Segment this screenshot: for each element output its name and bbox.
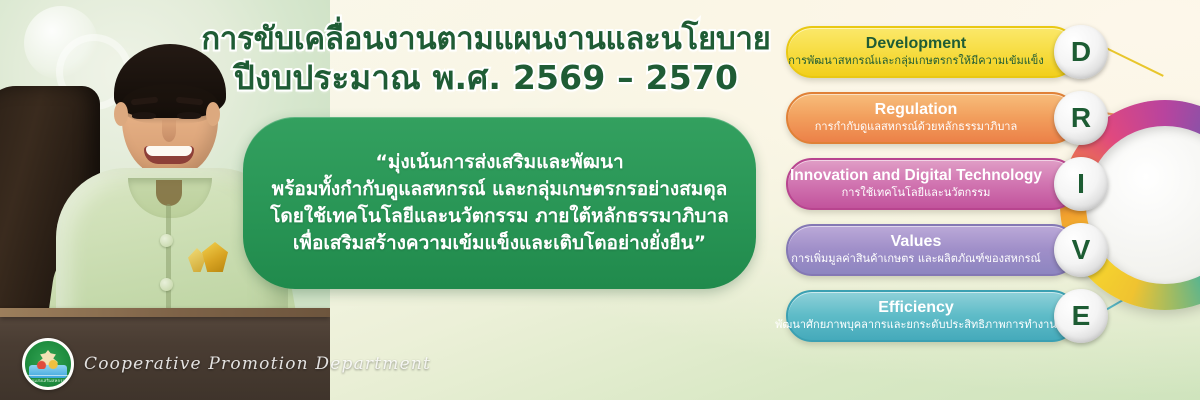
drive-card-development[interactable]: Development การพัฒนาสหกรณ์และกลุ่มเกษตรก… [786, 26, 1078, 78]
card-subtitle-th: การใช้เทคโนโลยีและนวัตกรรม [842, 186, 991, 200]
nose [162, 120, 176, 142]
title-line-1: การขับเคลื่อนงานตามแผนงานและนโยบาย [196, 22, 776, 57]
jacket-button [160, 234, 173, 247]
quote-line: เพื่อเสริมสร้างความเข้มแข็งและเติบโตอย่า… [293, 230, 706, 257]
card-title-en: Development [866, 36, 966, 53]
card-title-en: Values [891, 234, 942, 251]
eye-left [132, 112, 156, 119]
eye-right [177, 112, 201, 119]
card-subtitle-th: พัฒนาศักยภาพบุคลากรและยกระดับประสิทธิภาพ… [775, 318, 1057, 332]
drive-card-efficiency[interactable]: Efficiency พัฒนาศักยภาพบุคลากรและยกระดับ… [786, 290, 1078, 342]
drive-letter-i: I [1054, 157, 1108, 211]
collar-inner [156, 180, 182, 206]
logo-wordmark: Cooperative Promotion Department [84, 354, 431, 374]
card-subtitle-th: การพัฒนาสหกรณ์และกลุ่มเกษตรกรให้มีความเข… [788, 54, 1043, 68]
connector-line-d [1104, 46, 1164, 77]
jacket-button [160, 278, 173, 291]
drive-strategy-cards: Development การพัฒนาสหกรณ์และกลุ่มเกษตรก… [786, 26, 1086, 374]
ear-right [206, 102, 220, 126]
card-title-en: Regulation [875, 102, 958, 119]
drive-card-innovation[interactable]: Innovation and Digital Technology การใช้… [786, 158, 1078, 210]
quote-line: โดยใช้เทคโนโลยีและนวัตกรรม ภายใต้หลักธรร… [270, 203, 729, 230]
card-title-en: Efficiency [878, 300, 954, 317]
banner-title: การขับเคลื่อนงานตามแผนงานและนโยบาย ปีงบป… [196, 22, 776, 97]
drive-letter-e: E [1054, 289, 1108, 343]
drive-letter-d: D [1054, 25, 1108, 79]
policy-quote-box: “มุ่งเน้นการส่งเสริมและพัฒนา พร้อมทั้งกำ… [243, 117, 756, 289]
department-logo: กรมส่งเสริมสหกรณ์ Cooperative Promotion … [22, 338, 431, 390]
desk-edge [0, 308, 330, 317]
title-line-2: ปีงบประมาณ พ.ศ. 2569 – 2570 [196, 60, 776, 97]
drive-letter-v: V [1054, 223, 1108, 277]
drive-letter-r: R [1054, 91, 1108, 145]
card-subtitle-th: การเพิ่มมูลค่าสินค้าเกษตร และผลิตภัณฑ์ขอ… [791, 252, 1040, 266]
ear-left [114, 102, 128, 126]
mouth [144, 146, 194, 164]
card-subtitle-th: การกำกับดูแลสหกรณ์ด้วยหลักธรรมาภิบาล [815, 120, 1017, 134]
seal-caption: กรมส่งเสริมสหกรณ์ [27, 375, 69, 386]
teeth [146, 146, 192, 156]
promotional-banner: กรมส่งเสริมสหกรณ์ Cooperative Promotion … [0, 0, 1200, 400]
drive-card-regulation[interactable]: Regulation การกำกับดูแลสหกรณ์ด้วยหลักธรร… [786, 92, 1078, 144]
cooperative-seal-icon: กรมส่งเสริมสหกรณ์ [22, 338, 74, 390]
card-title-en: Innovation and Digital Technology [790, 168, 1042, 184]
quote-line: “มุ่งเน้นการส่งเสริมและพัฒนา [375, 149, 623, 176]
quote-line: พร้อมทั้งกำกับดูแลสหกรณ์ และกลุ่มเกษตรกร… [272, 176, 728, 203]
drive-card-values[interactable]: Values การเพิ่มมูลค่าสินค้าเกษตร และผลิต… [786, 224, 1078, 276]
